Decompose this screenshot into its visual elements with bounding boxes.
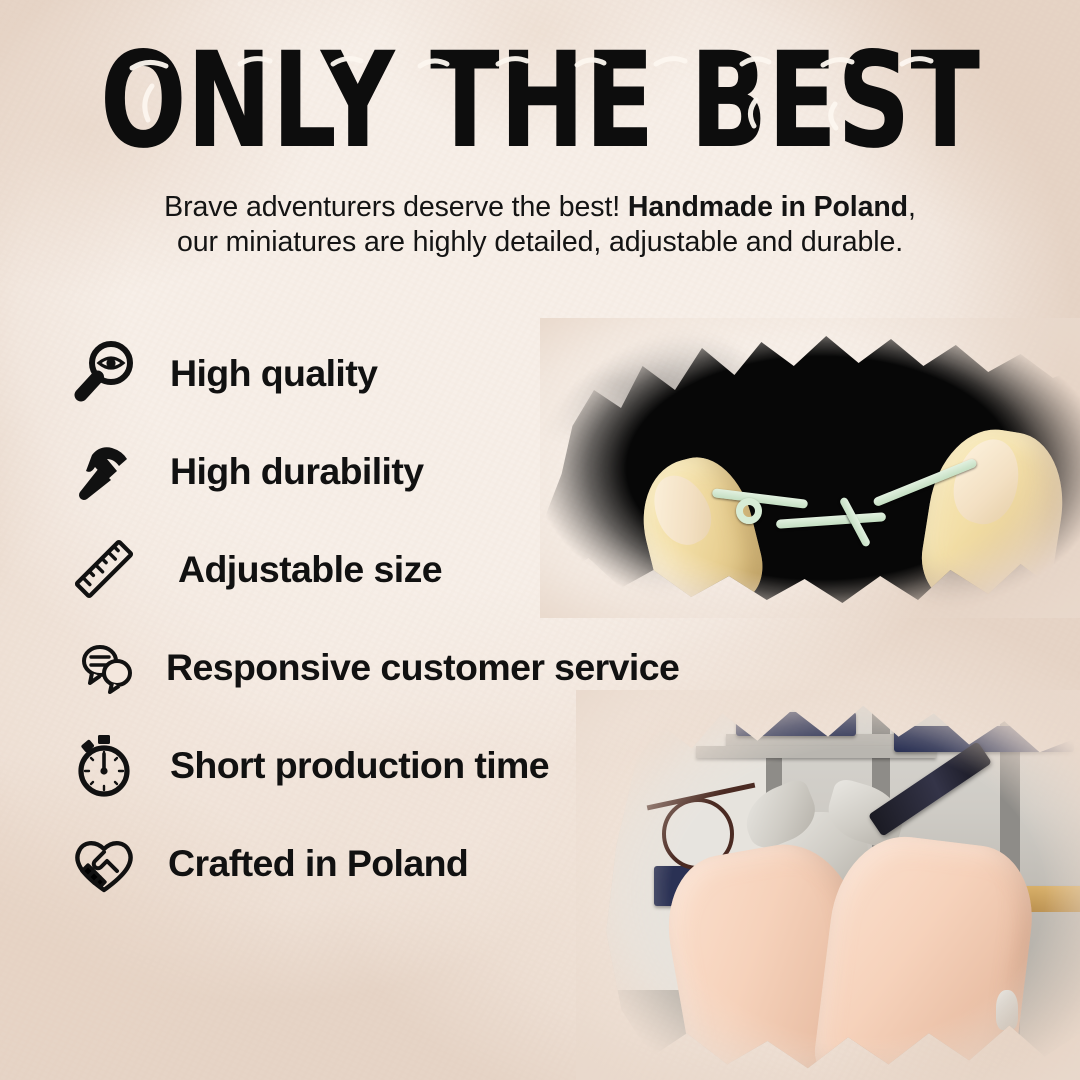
miniature-part-ring — [736, 498, 762, 524]
hammer-icon — [66, 433, 142, 509]
stopwatch-icon — [66, 727, 142, 803]
feature-label: Short production time — [170, 744, 549, 787]
miniature-part-segment-mid — [776, 512, 886, 529]
torn-edge-mask — [540, 318, 1080, 618]
ruler-icon — [66, 531, 142, 607]
subtitle-prefix: Brave adventurers deserve the best! — [164, 191, 628, 223]
subtitle-line-2: our miniatures are highly detailed, adju… — [60, 225, 1020, 260]
feature-label: Adjustable size — [178, 548, 442, 591]
feature-label: High durability — [170, 450, 424, 493]
subtitle-bold-phrase: Handmade in Poland — [628, 191, 908, 223]
headline-text: ONLY THE BEST — [100, 34, 980, 174]
fingernail-left — [643, 466, 721, 554]
feature-label: High quality — [170, 352, 377, 395]
subtitle-suffix: , — [908, 191, 916, 223]
torn-edge-mask — [576, 690, 1080, 1080]
workshop-scene — [576, 690, 1080, 1080]
page-title: .lt{ font-family:"DejaVu Sans", sans-ser… — [0, 34, 1080, 174]
feature-label: Responsive customer service — [166, 646, 679, 689]
subtitle: Brave adventurers deserve the best! Hand… — [60, 190, 1020, 260]
subtitle-line-1: Brave adventurers deserve the best! Hand… — [60, 190, 1020, 225]
poster-canvas: .lt{ font-family:"DejaVu Sans", sans-ser… — [0, 0, 1080, 1080]
magnifier-eye-icon — [66, 335, 142, 411]
speech-bubbles-icon — [66, 629, 142, 705]
headline-lettering: .lt{ font-family:"DejaVu Sans", sans-ser… — [90, 34, 990, 174]
parts-tray-top — [736, 712, 856, 736]
fingernail-right — [945, 431, 1029, 531]
workshop-crafting-photo — [576, 690, 1080, 1080]
flexible-miniature-photo — [540, 318, 1080, 618]
handshake-heart-icon — [66, 825, 142, 901]
parts-tray-right — [894, 726, 1074, 752]
feature-label: Crafted in Poland — [168, 842, 468, 885]
small-miniature-figure — [996, 990, 1018, 1030]
